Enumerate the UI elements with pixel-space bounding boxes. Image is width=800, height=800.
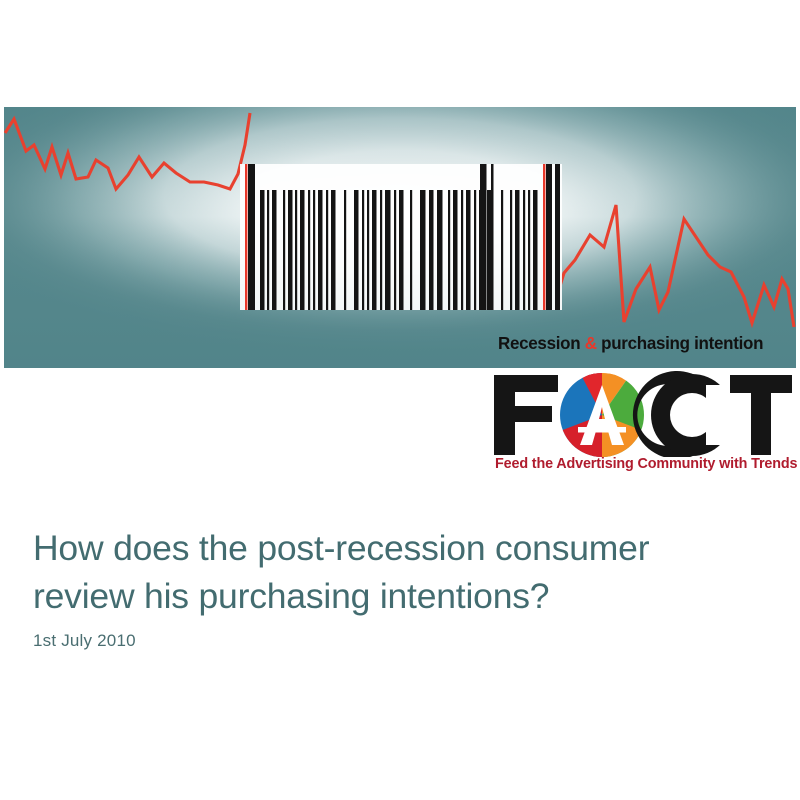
barcode-caption: Recession & purchasing intention [498, 332, 779, 354]
barcode-caption-suffix: purchasing intention [597, 333, 763, 353]
barcode-graphic: Recession & purchasing intention [240, 164, 562, 310]
slide-date: 1st July 2010 [33, 630, 136, 652]
fact-logo: Feed the Advertising Community with Tren… [492, 371, 794, 481]
fact-logo-mark [492, 371, 794, 457]
page-title-line-2: review his purchasing intentions? [33, 572, 763, 620]
page-title-line-1: How does the post-recession consumer [33, 528, 649, 568]
fact-logo-tagline: Feed the Advertising Community with Tren… [495, 455, 791, 473]
fact-logo-letters [492, 371, 794, 457]
page-title: How does the post-recession consumer rev… [33, 524, 763, 620]
barcode-bars [240, 164, 562, 310]
barcode-guard-left-red [245, 164, 247, 310]
slide-canvas: Recession & purchasing intention [0, 0, 800, 800]
logo-letter-f-icon [494, 375, 558, 455]
barcode-caption-ampersand: & [585, 333, 597, 353]
logo-letter-a-pie-icon [560, 373, 644, 457]
barcode-guard-right-red [543, 164, 545, 310]
barcode-caption-prefix: Recession [498, 333, 585, 353]
logo-letter-c-icon [633, 371, 744, 457]
